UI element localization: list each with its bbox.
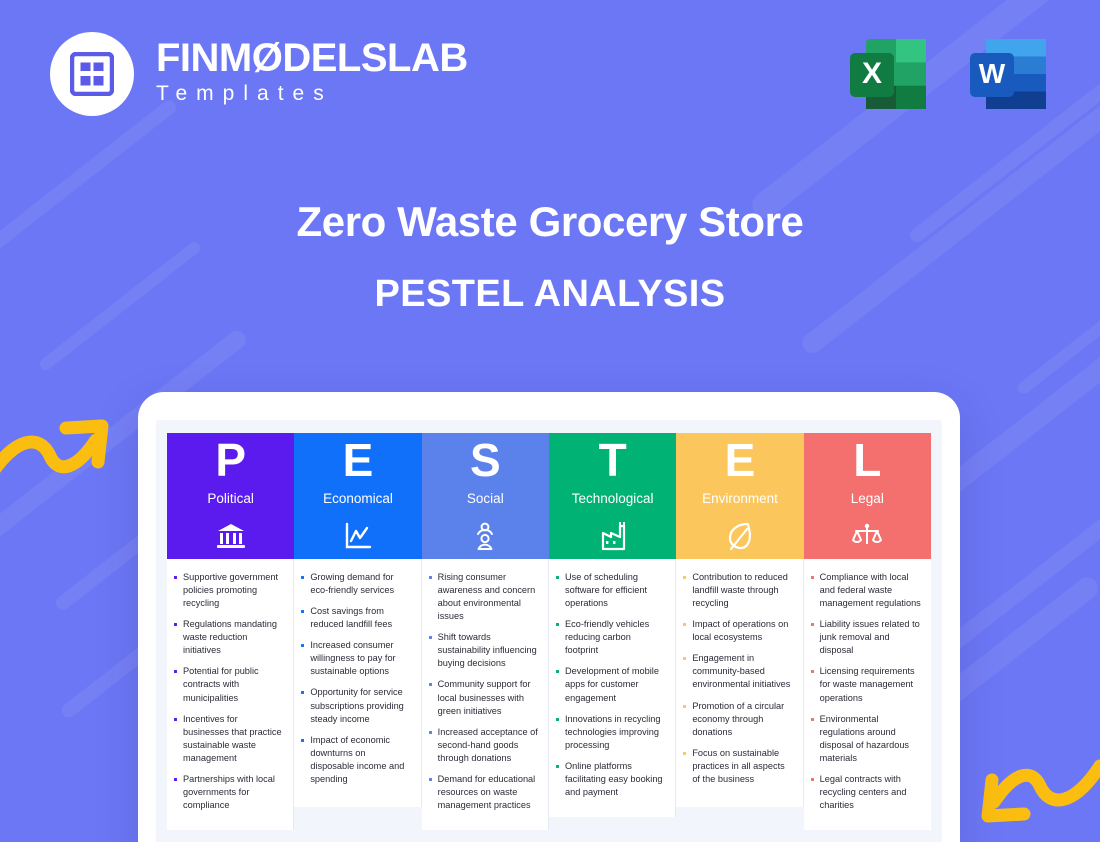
list-item: Regulations mandating waste reduction in… <box>174 618 284 657</box>
bullet-marker <box>429 778 432 781</box>
icon-cell-political <box>167 513 294 559</box>
line-chart-icon <box>344 522 372 550</box>
list-item: Liability issues related to junk removal… <box>811 618 922 657</box>
bullet-marker <box>429 576 432 579</box>
bullet-list-legal: Compliance with local and federal waste … <box>811 571 922 812</box>
letter: P <box>215 437 246 483</box>
page-title: Zero Waste Grocery Store <box>0 196 1100 249</box>
bullet-marker <box>811 623 814 626</box>
bullet-marker <box>174 718 177 721</box>
list-item: Engagement in community-based environmen… <box>683 652 793 691</box>
bullet-marker <box>556 670 559 673</box>
page-subtitle: PESTEL ANALYSIS <box>0 271 1100 319</box>
list-item: Focus on sustainable practices in all as… <box>683 747 793 786</box>
bank-institution-icon <box>216 522 246 550</box>
pestel-header-economical[interactable]: E Economical <box>294 433 421 513</box>
list-item: Increased consumer willingness to pay fo… <box>301 639 411 678</box>
grid-squares-icon <box>70 52 114 96</box>
factory-icon <box>599 521 627 551</box>
brand-tagline: Templates <box>156 78 468 110</box>
label: Technological <box>549 491 676 506</box>
list-item: Impact of economic downturns on disposab… <box>301 734 411 786</box>
bullet-marker <box>174 670 177 673</box>
bullet-marker <box>556 623 559 626</box>
letter: L <box>853 437 881 483</box>
excel-icon[interactable]: X <box>844 30 932 118</box>
letter: E <box>343 437 374 483</box>
bullet-marker <box>683 576 686 579</box>
page-header: FINMØDELSLAB Templates X <box>0 0 1100 150</box>
word-icon[interactable]: W <box>964 30 1052 118</box>
pestel-body-row: Supportive government policies promoting… <box>167 559 931 830</box>
bullet-marker <box>811 718 814 721</box>
squiggle-arrow-up-right-icon <box>0 398 128 494</box>
leaf-icon <box>726 521 754 551</box>
bullet-marker <box>301 739 304 742</box>
bullet-marker <box>683 752 686 755</box>
bullet-marker <box>429 636 432 639</box>
tablet-device-frame: P Political E Economical S Social T Tech… <box>138 392 960 842</box>
bullet-marker <box>301 691 304 694</box>
pestel-body-legal: Compliance with local and federal waste … <box>804 559 931 830</box>
bullet-marker <box>683 657 686 660</box>
pestel-header-social[interactable]: S Social <box>422 433 549 513</box>
label: Economical <box>294 491 421 506</box>
bullet-marker <box>174 576 177 579</box>
list-item: Promotion of a circular economy through … <box>683 700 793 739</box>
list-item: Use of scheduling software for efficient… <box>556 571 666 610</box>
pestel-header-political[interactable]: P Political <box>167 433 294 513</box>
bullet-list-technological: Use of scheduling software for efficient… <box>556 571 666 799</box>
icon-cell-environment <box>676 513 803 559</box>
list-item: Potential for public contracts with muni… <box>174 665 284 704</box>
bullet-marker <box>174 623 177 626</box>
pestel-body-political: Supportive government policies promoting… <box>167 559 294 830</box>
icon-cell-social <box>422 513 549 559</box>
list-item: Environmental regulations around disposa… <box>811 713 922 765</box>
letter: E <box>725 437 756 483</box>
bullet-marker <box>683 623 686 626</box>
list-item: Demand for educational resources on wast… <box>429 773 539 812</box>
label: Legal <box>804 491 931 506</box>
bullet-marker <box>429 683 432 686</box>
list-item: Growing demand for eco-friendly services <box>301 571 411 597</box>
list-item: Incentives for businesses that practice … <box>174 713 284 765</box>
bullet-marker <box>429 731 432 734</box>
pestel-table: P Political E Economical S Social T Tech… <box>167 433 931 830</box>
svg-text:X: X <box>862 57 882 90</box>
pestel-icon-row <box>167 513 931 559</box>
list-item: Increased acceptance of second-hand good… <box>429 726 539 765</box>
people-group-icon <box>470 521 500 551</box>
brand-logo[interactable]: FINMØDELSLAB Templates <box>50 32 468 116</box>
pestel-header-row: P Political E Economical S Social T Tech… <box>167 433 931 513</box>
list-item: Compliance with local and federal waste … <box>811 571 922 610</box>
bullet-marker <box>556 576 559 579</box>
pestel-header-environment[interactable]: E Environment <box>676 433 803 513</box>
bullet-marker <box>301 610 304 613</box>
list-item: Supportive government policies promoting… <box>174 571 284 610</box>
list-item: Rising consumer awareness and concern ab… <box>429 571 539 623</box>
bullet-marker <box>811 778 814 781</box>
bullet-list-political: Supportive government policies promoting… <box>174 571 284 812</box>
pestel-body-social: Rising consumer awareness and concern ab… <box>422 559 549 830</box>
icon-cell-legal <box>804 513 931 559</box>
bullet-marker <box>811 670 814 673</box>
bullet-marker <box>301 644 304 647</box>
pestel-body-environment: Contribution to reduced landfill waste t… <box>676 559 803 807</box>
list-item: Eco-friendly vehicles reducing carbon fo… <box>556 618 666 657</box>
label: Social <box>422 491 549 506</box>
list-item: Online platforms facilitating easy booki… <box>556 760 666 799</box>
list-item: Legal contracts with recycling centers a… <box>811 773 922 812</box>
svg-text:W: W <box>979 58 1006 89</box>
bullet-marker <box>301 576 304 579</box>
bullet-list-economical: Growing demand for eco-friendly services… <box>301 571 411 786</box>
icon-cell-economical <box>294 513 421 559</box>
bullet-list-environment: Contribution to reduced landfill waste t… <box>683 571 793 786</box>
list-item: Innovations in recycling technologies im… <box>556 713 666 752</box>
bullet-list-social: Rising consumer awareness and concern ab… <box>429 571 539 812</box>
bullet-marker <box>811 576 814 579</box>
list-item: Licensing requirements for waste managem… <box>811 665 922 704</box>
list-item: Opportunity for service subscriptions pr… <box>301 686 411 725</box>
list-item: Impact of operations on local ecosystems <box>683 618 793 644</box>
pestel-header-technological[interactable]: T Technological <box>549 433 676 513</box>
bullet-marker <box>556 765 559 768</box>
tablet-screen: P Political E Economical S Social T Tech… <box>156 420 942 842</box>
logo-badge <box>50 32 134 116</box>
title-block: Zero Waste Grocery Store PESTEL ANALYSIS <box>0 196 1100 318</box>
icon-cell-technological <box>549 513 676 559</box>
list-item: Partnerships with local governments for … <box>174 773 284 812</box>
bullet-marker <box>683 705 686 708</box>
list-item: Cost savings from reduced landfill fees <box>301 605 411 631</box>
list-item: Contribution to reduced landfill waste t… <box>683 571 793 610</box>
brand-name: FINMØDELSLAB <box>156 38 468 78</box>
list-item: Community support for local businesses w… <box>429 678 539 717</box>
pestel-header-legal[interactable]: L Legal <box>804 433 931 513</box>
bullet-marker <box>174 778 177 781</box>
letter: S <box>470 437 501 483</box>
label: Environment <box>676 491 803 506</box>
pestel-body-technological: Use of scheduling software for efficient… <box>549 559 676 817</box>
list-item: Development of mobile apps for customer … <box>556 665 666 704</box>
label: Political <box>167 491 294 506</box>
scales-justice-icon <box>851 522 883 550</box>
pestel-body-economical: Growing demand for eco-friendly services… <box>294 559 421 807</box>
squiggle-arrow-down-left-icon <box>962 748 1100 842</box>
bullet-marker <box>556 718 559 721</box>
list-item: Shift towards sustainability influencing… <box>429 631 539 670</box>
letter: T <box>599 437 627 483</box>
office-format-icons: X W <box>844 30 1052 118</box>
